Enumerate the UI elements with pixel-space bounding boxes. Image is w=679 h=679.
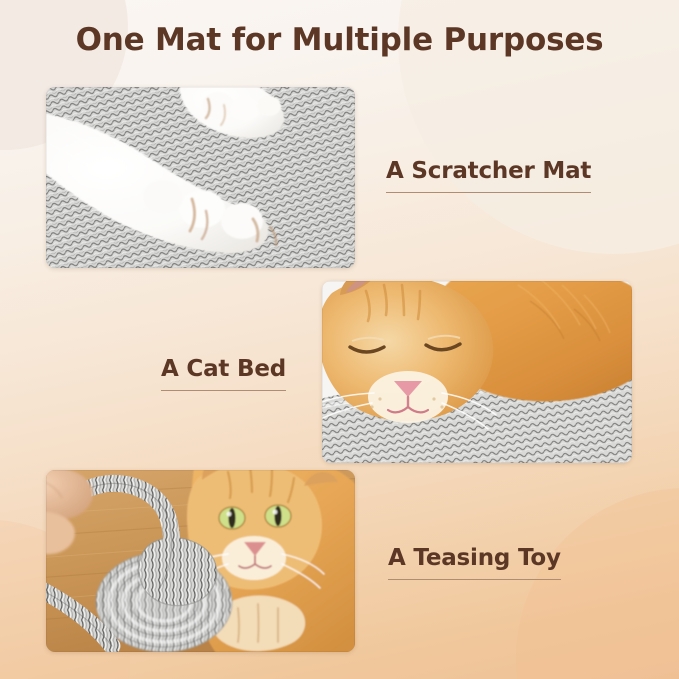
poster-canvas: One Mat for Multiple Purposes xyxy=(0,0,679,679)
feature-label-teasing-toy: A Teasing Toy xyxy=(388,545,561,580)
photo-teasing-toy-image xyxy=(46,470,355,652)
feature-label-scratcher-mat: A Scratcher Mat xyxy=(386,158,591,193)
photo-cat-bed-image xyxy=(322,281,632,463)
photo-card-teasing-toy xyxy=(46,470,355,652)
photo-scratcher-mat-image xyxy=(46,87,355,268)
feature-label-cat-bed: A Cat Bed xyxy=(161,356,286,391)
poster-title: One Mat for Multiple Purposes xyxy=(0,22,679,58)
photo-card-cat-bed xyxy=(322,281,632,463)
photo-card-scratcher-mat xyxy=(46,87,355,268)
